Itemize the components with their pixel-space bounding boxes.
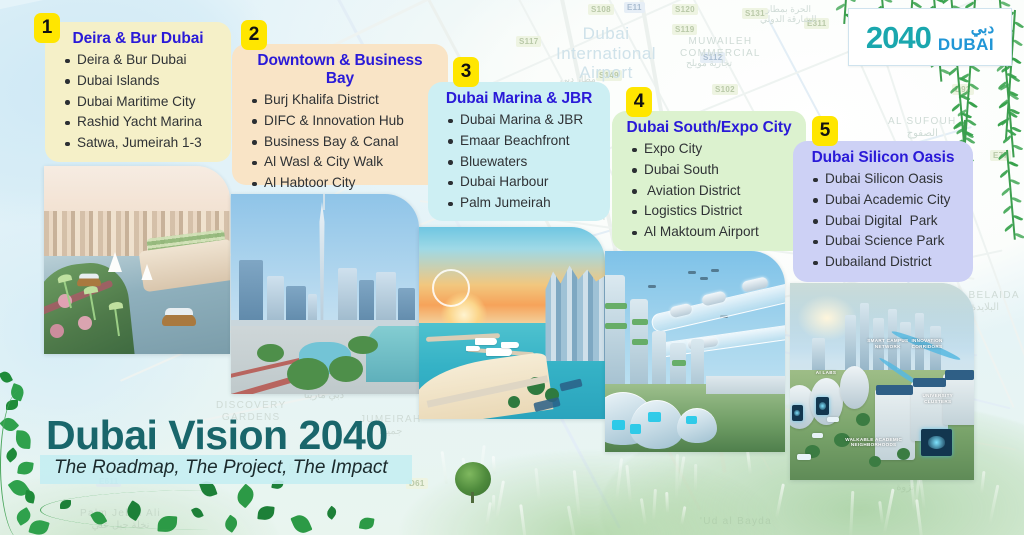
map-place-label: MUWAILEH COMMERCIAL — [680, 36, 761, 59]
map-road-shield: S108 — [588, 4, 614, 15]
map-road-shield: S117 — [516, 36, 541, 47]
list-item: Al Wasl & City Walk — [264, 152, 436, 173]
list-item: Dubai South — [644, 160, 794, 181]
card-4-heading: Dubai South/Expo City — [624, 119, 794, 137]
page-subtitle: The Roadmap, The Project, The Impact — [54, 457, 388, 479]
list-item: Al Maktoum Airport — [644, 222, 794, 243]
list-item: Business Bay & Canal — [264, 132, 436, 153]
grass-blade — [665, 492, 669, 513]
card-dubai-silicon-oasis[interactable]: Dubai Silicon Oasis Dubai Silicon Oasis … — [793, 141, 973, 282]
list-item: Logistics District — [644, 201, 794, 222]
logo-year: 2040 — [866, 22, 931, 53]
badge-3: 3 — [453, 57, 479, 87]
list-item: Dubailand District — [825, 252, 961, 273]
p4-airport-strip — [706, 376, 785, 394]
map-road-shield: E11 — [624, 2, 645, 13]
list-item: Aviation District — [644, 181, 794, 202]
photo5-label: UNIVERSITY CLUSTERS — [922, 393, 953, 404]
card-5-heading: Dubai Silicon Oasis — [805, 149, 961, 167]
infographic-canvas: S108E11S120S119S117S112S102S131E311E88S1… — [0, 0, 1024, 535]
map-tree-icon — [455, 462, 491, 496]
badge-4: 4 — [626, 87, 652, 117]
list-item: Dubai Digital Park — [825, 211, 961, 232]
dubai-2040-logo[interactable]: 2040 دبي DUBAI — [848, 8, 1012, 66]
p2-elevated-rail — [231, 320, 419, 326]
photo5-label: WALKABLE ACADEMIC NEIGHBORHOODS — [845, 437, 902, 448]
map-place-label: تجارية مويلح — [686, 58, 732, 68]
list-item: Dubai Maritime City — [77, 92, 219, 113]
badge-2: 2 — [241, 20, 267, 50]
photo5-label: SMART CAMPUS NETWORK — [867, 338, 908, 349]
card-2-heading: Downtown & Business Bay — [244, 52, 436, 88]
logo-english: DUBAI — [938, 36, 994, 53]
logo-wordmark: دبي DUBAI — [938, 21, 994, 53]
list-item: Deira & Bur Dubai — [77, 50, 219, 71]
list-item: Dubai Marina & JBR — [460, 110, 598, 131]
map-road-shield: S119 — [672, 24, 697, 35]
map-road-shield: S120 — [672, 4, 698, 15]
list-item: Dubai Academic City — [825, 190, 961, 211]
list-item: Dubai Silicon Oasis — [825, 169, 961, 190]
photo-dubai-creek-waterfront-render — [44, 166, 230, 354]
card-3-heading: Dubai Marina & JBR — [440, 90, 598, 108]
badge-5: 5 — [812, 116, 838, 146]
list-item: Dubai Islands — [77, 71, 219, 92]
card-dubai-south-expo-city[interactable]: Dubai South/Expo City Expo City Dubai So… — [612, 111, 806, 251]
card-3-list: Dubai Marina & JBR Emaar Beachfront Blue… — [440, 110, 598, 214]
grass-blade — [694, 464, 697, 491]
map-place-label: الحرة بمطار الشارقة الدولي — [760, 4, 817, 25]
vine-stem — [0, 390, 41, 535]
list-item: Bluewaters — [460, 152, 598, 173]
map-place-label: AL SUFOUH الصفوح — [888, 116, 957, 139]
card-4-list: Expo City Dubai South Aviation District … — [624, 139, 794, 243]
list-item: Palm Jumeirah — [460, 193, 598, 214]
card-downtown-business-bay[interactable]: Downtown & Business Bay Burj Khalifa Dis… — [232, 44, 448, 185]
logo-arabic: دبي — [971, 21, 994, 36]
card-2-list: Burj Khalifa District DIFC & Innovation … — [244, 90, 436, 194]
photo-expo-city-futuristic-hyperloop — [605, 251, 785, 452]
photo5-label: AI LABS — [816, 370, 836, 376]
list-item: Al Habtoor City — [264, 173, 436, 194]
card-deira-bur-dubai[interactable]: Deira & Bur Dubai Deira & Bur Dubai Duba… — [45, 22, 231, 162]
page-title: Dubai Vision 2040 — [46, 412, 388, 459]
map-road-shield: S102 — [712, 84, 738, 95]
list-item: Expo City — [644, 139, 794, 160]
list-item: Rashid Yacht Marina — [77, 112, 219, 133]
photo-silicon-oasis-smart-campus: AI LABSSMART CAMPUS NETWORKINNOVATION CO… — [790, 283, 974, 480]
list-item: Dubai Harbour — [460, 172, 598, 193]
list-item: Emaar Beachfront — [460, 131, 598, 152]
list-item: Dubai Science Park — [825, 231, 961, 252]
photo-jbr-beach-sunset-marina — [419, 227, 605, 419]
list-item: Burj Khalifa District — [264, 90, 436, 111]
list-item: Satwa, Jumeirah 1-3 — [77, 133, 219, 154]
card-5-list: Dubai Silicon Oasis Dubai Academic City … — [805, 169, 961, 273]
photo-downtown-burj-khalifa-skyline — [231, 194, 419, 394]
card-1-heading: Deira & Bur Dubai — [57, 30, 219, 48]
card-1-list: Deira & Bur Dubai Dubai Islands Dubai Ma… — [57, 50, 219, 154]
grass-blade — [441, 451, 448, 484]
badge-1: 1 — [34, 13, 60, 43]
card-dubai-marina-jbr[interactable]: Dubai Marina & JBR Dubai Marina & JBR Em… — [428, 82, 610, 221]
list-item: DIFC & Innovation Hub — [264, 111, 436, 132]
map-tree-trunk — [471, 492, 474, 503]
photo5-label: INNOVATION CORRIDORS — [911, 338, 942, 349]
vine-stem — [40, 490, 381, 530]
